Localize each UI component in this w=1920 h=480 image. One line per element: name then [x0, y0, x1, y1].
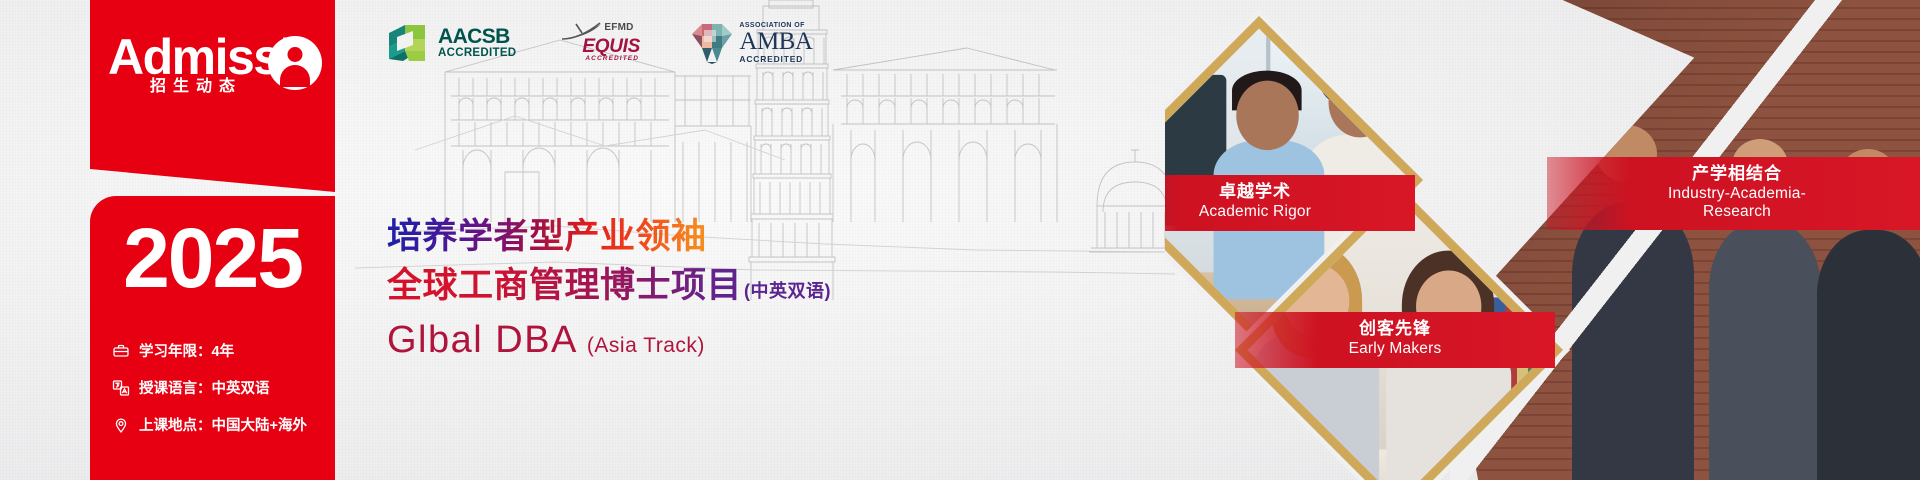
equis-accredited: ACCREDITED — [585, 55, 639, 62]
program-track-note: (Asia Track) — [587, 334, 705, 358]
label-en: Academic Rigor — [1165, 203, 1393, 222]
amba-accredited: ACCREDITED — [739, 54, 812, 64]
headline-program-en: Glbal DBA (Asia Track) — [387, 317, 831, 363]
headline-tagline: 培养学者型产业领袖 — [387, 216, 831, 258]
photo-collage: 卓越学术 Academic Rigor 创客先锋 Early Makers 产学… — [1165, 0, 1920, 480]
accreditation-logos: AACSB ACCREDITED EFMD EQUIS ACCREDITED — [385, 20, 812, 66]
label-industry-academia: 产学相结合 Industry-Academia- Research — [1547, 157, 1920, 230]
label-en-line2: Research — [1569, 203, 1905, 221]
amba-name: AMBA — [739, 30, 812, 54]
info-row-duration: 学习年限：4年 — [112, 332, 337, 369]
label-cn: 卓越学术 — [1165, 182, 1393, 203]
location-pin-icon — [112, 416, 130, 434]
admission-logo: Admissi 招生动态 — [98, 30, 338, 120]
aacsb-logo: AACSB ACCREDITED — [385, 21, 516, 65]
aacsb-squares-icon — [385, 21, 429, 65]
aacsb-name: AACSB — [438, 26, 516, 47]
label-en: Early Makers — [1257, 340, 1533, 359]
info-text: 上课地点：中国大陆+海外 — [139, 414, 307, 435]
amba-logo: ASSOCIATION OF AMBA ACCREDITED — [690, 22, 812, 64]
briefcase-icon — [112, 342, 130, 360]
program-name-cn: 全球工商管理博士项目 — [387, 264, 742, 308]
admission-banner: AACSB ACCREDITED EFMD EQUIS ACCREDITED — [0, 0, 1920, 480]
label-early-makers: 创客先锋 Early Makers — [1235, 312, 1555, 368]
center-content: AACSB ACCREDITED EFMD EQUIS ACCREDITED — [335, 0, 1165, 480]
translate-icon — [112, 379, 130, 397]
aacsb-accredited: ACCREDITED — [438, 47, 516, 60]
amba-gem-icon — [690, 22, 734, 64]
admission-word: Admissi — [108, 32, 292, 82]
info-row-language: 授课语言：中英双语 — [112, 369, 337, 406]
label-en-line1: Industry-Academia- — [1569, 185, 1905, 203]
label-cn: 创客先锋 — [1257, 319, 1533, 340]
info-text: 授课语言：中英双语 — [139, 377, 270, 398]
year-label: 2025 — [90, 216, 335, 300]
info-row-location: 上课地点：中国大陆+海外 — [112, 406, 337, 443]
person-avatar-icon — [268, 36, 322, 90]
brick-photo-edge — [1450, 0, 1920, 480]
program-name-en: Glbal DBA — [387, 317, 578, 363]
equis-logo: EFMD EQUIS ACCREDITED — [560, 20, 646, 66]
program-bilingual-note: (中英双语) — [744, 269, 831, 313]
efmd-label: EFMD — [604, 22, 633, 33]
label-cn: 产学相结合 — [1569, 164, 1905, 185]
equis-name: EQUIS — [582, 37, 640, 56]
headline-block: 培养学者型产业领袖 全球工商管理博士项目 (中英双语) Glbal DBA (A… — [387, 216, 831, 363]
label-academic-rigor: 卓越学术 Academic Rigor — [1165, 175, 1415, 231]
program-info-list: 学习年限：4年 授课语言：中英双语 — [112, 332, 337, 443]
headline-program-cn: 全球工商管理博士项目 (中英双语) — [387, 264, 831, 313]
admission-word-cn: 招生动态 — [150, 78, 242, 96]
info-text: 学习年限：4年 — [139, 340, 234, 361]
left-red-panel: Admissi 招生动态 2025 学习年限：4年 — [90, 0, 335, 480]
